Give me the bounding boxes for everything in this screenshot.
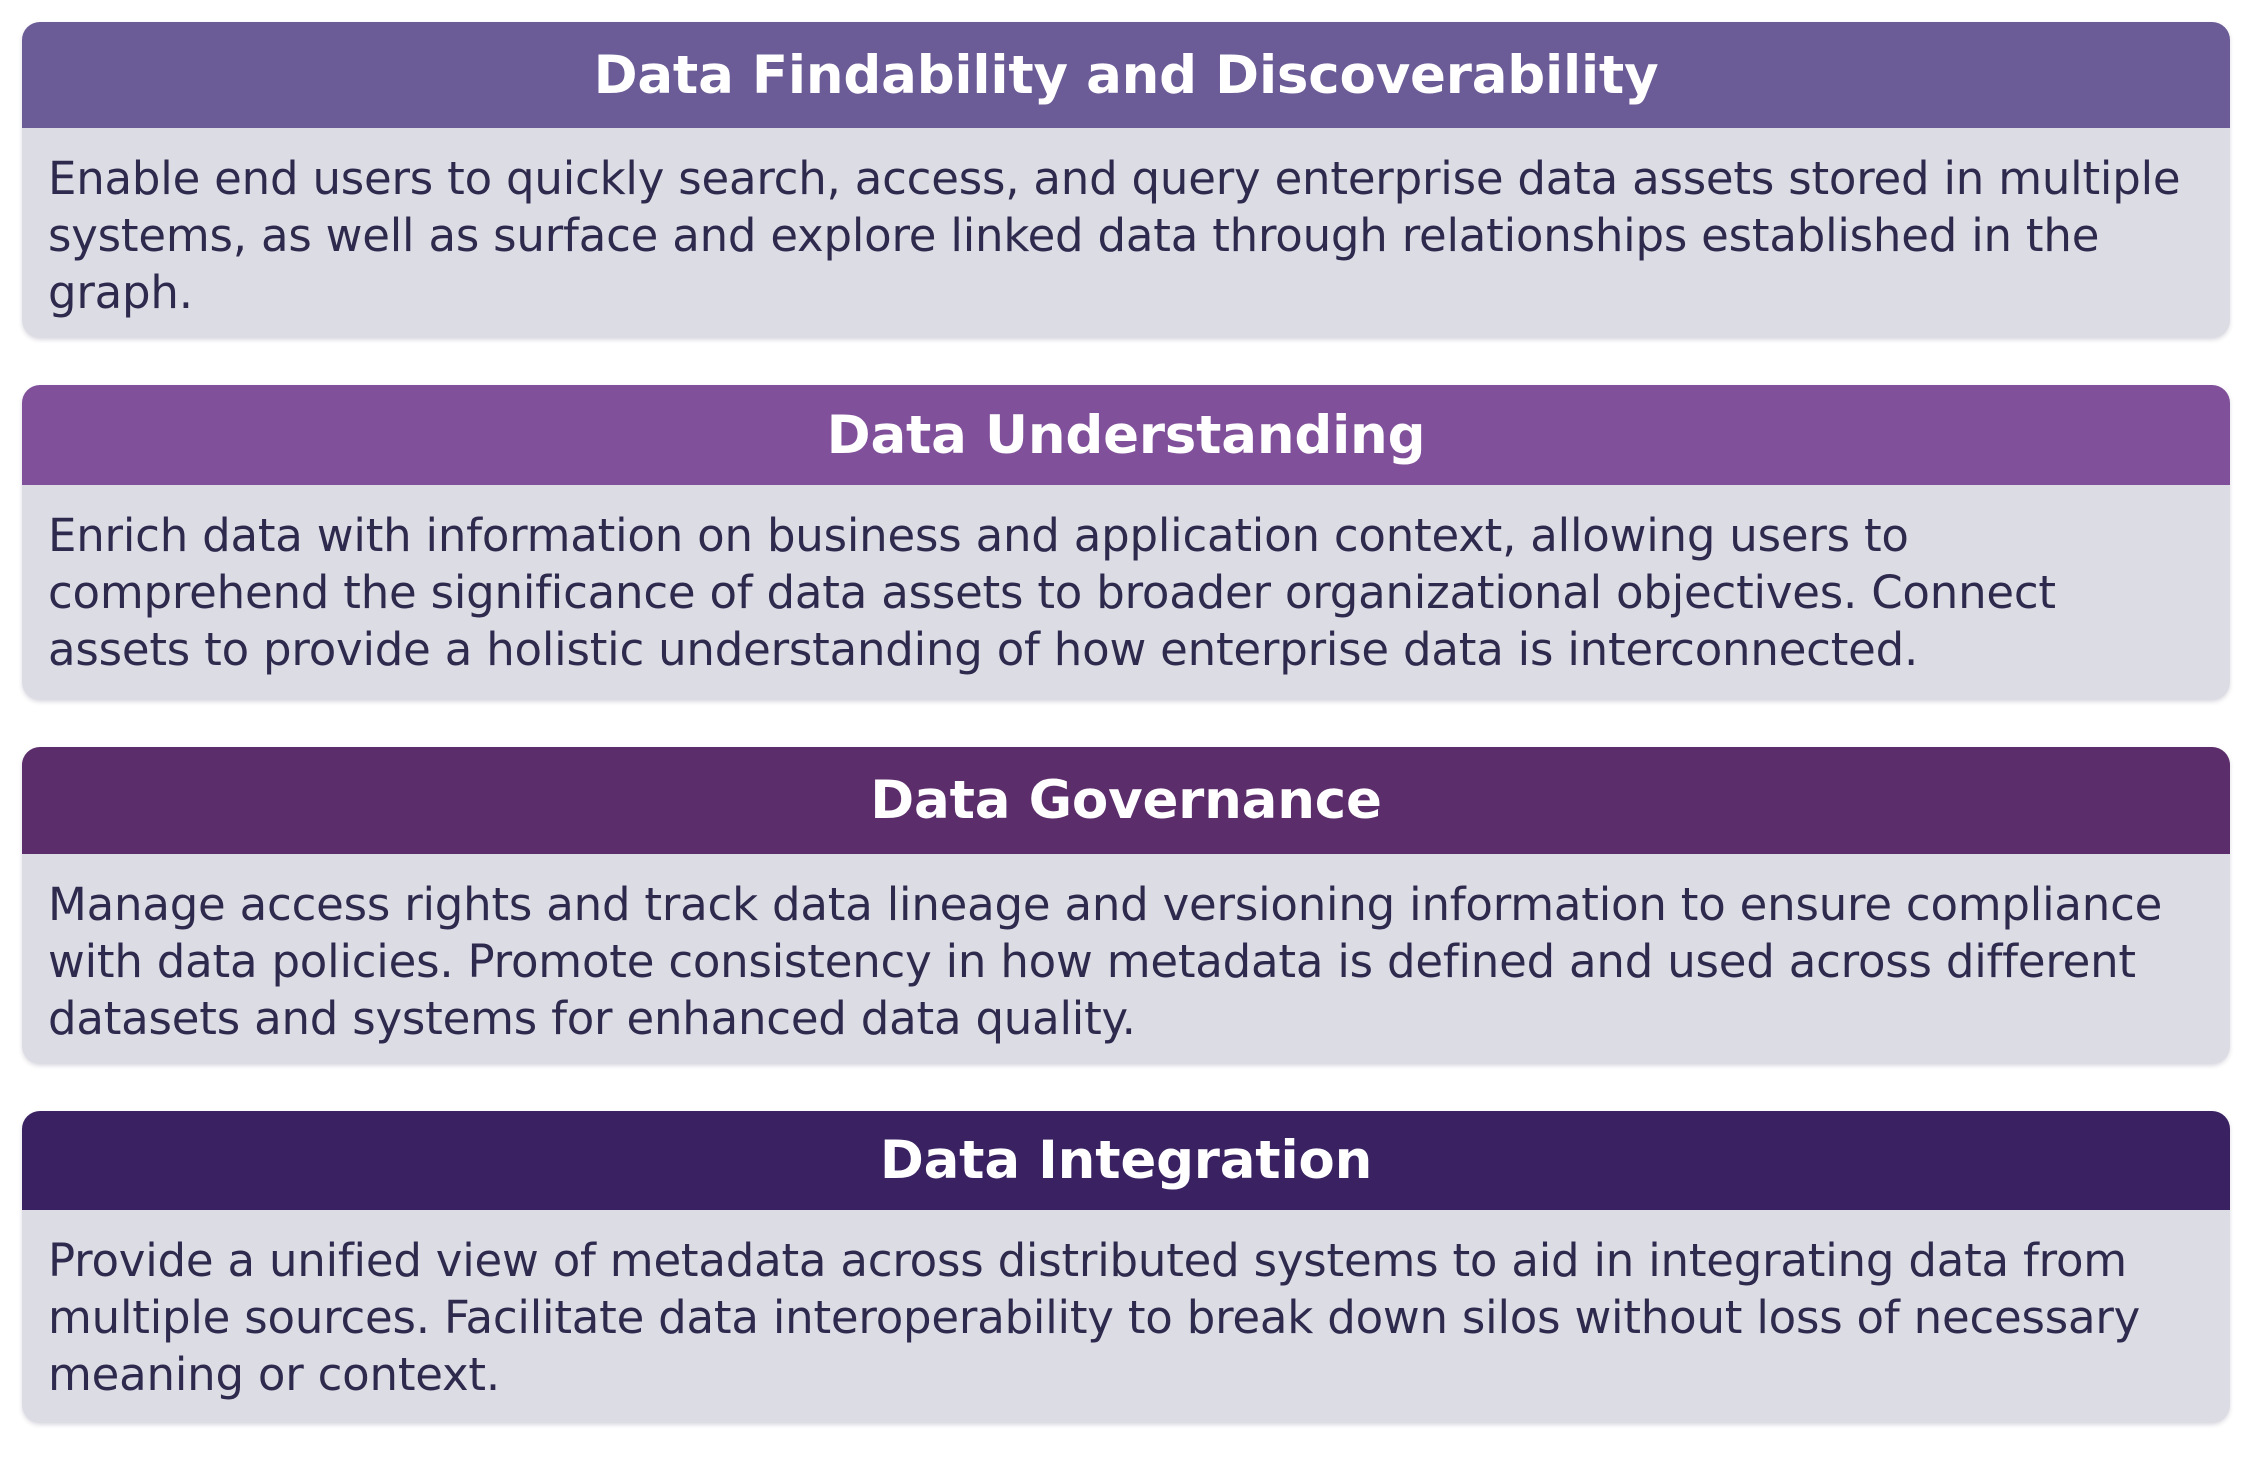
capability-card-understanding: Data Understanding Enrich data with info… — [22, 385, 2230, 700]
card-body-governance: Manage access rights and track data line… — [22, 854, 2230, 1064]
capability-cards-board: Data Findability and Discoverability Ena… — [0, 0, 2260, 1460]
capability-card-findability: Data Findability and Discoverability Ena… — [22, 22, 2230, 338]
card-header-findability: Data Findability and Discoverability — [22, 22, 2230, 128]
capability-card-integration: Data Integration Provide a unified view … — [22, 1111, 2230, 1423]
card-header-governance: Data Governance — [22, 747, 2230, 854]
card-header-integration: Data Integration — [22, 1111, 2230, 1210]
capability-card-governance: Data Governance Manage access rights and… — [22, 747, 2230, 1064]
card-body-understanding: Enrich data with information on business… — [22, 485, 2230, 700]
card-body-findability: Enable end users to quickly search, acce… — [22, 128, 2230, 338]
card-header-understanding: Data Understanding — [22, 385, 2230, 485]
card-body-integration: Provide a unified view of metadata acros… — [22, 1210, 2230, 1423]
